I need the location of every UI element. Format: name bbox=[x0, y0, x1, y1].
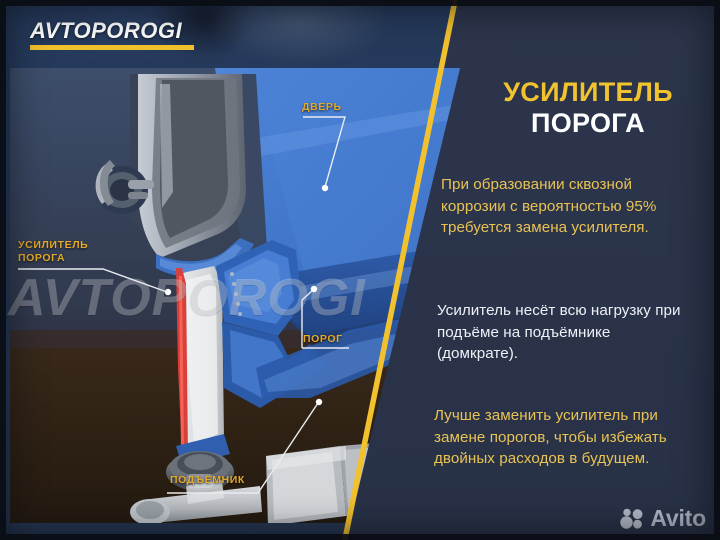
callout-label-sill: ПОРОГ bbox=[303, 333, 343, 346]
callout-label-reinforcer-line1: УСИЛИТЕЛЬ bbox=[18, 239, 88, 252]
page-title-line2: ПОРОГА bbox=[466, 109, 710, 138]
callout-label-lift: ПОДЪЁМНИК bbox=[170, 474, 245, 487]
page-title: УСИЛИТЕЛЬ ПОРОГА bbox=[466, 78, 710, 138]
callout-label-reinforcer-line2: ПОРОГА bbox=[18, 252, 88, 265]
body-paragraph-1: При образовании сквозной коррозии с веро… bbox=[441, 174, 699, 239]
callout-label-reinforcer: УСИЛИТЕЛЬ ПОРОГА bbox=[18, 239, 88, 265]
avito-wordmark: Avito bbox=[650, 507, 706, 530]
page-title-line1: УСИЛИТЕЛЬ bbox=[466, 78, 710, 107]
body-paragraph-3: Лучше заменить усилитель при замене поро… bbox=[434, 405, 692, 470]
callout-label-door: ДВЕРЬ bbox=[302, 101, 342, 114]
brand-logo-underline bbox=[30, 45, 194, 50]
body-paragraph-2: Усилитель несёт всю нагрузку при подъёме… bbox=[437, 300, 695, 365]
avito-watermark: Avito bbox=[619, 507, 706, 530]
advertisement-image: AVTOPOROGI ДВЕРЬ УСИЛИТЕЛЬ ПОРОГА ПОРОГ … bbox=[0, 0, 720, 540]
brand-logo: AVTOPOROGI bbox=[30, 20, 194, 50]
avito-dots-icon bbox=[619, 508, 645, 530]
brand-logo-text: AVTOPOROGI bbox=[30, 20, 194, 42]
